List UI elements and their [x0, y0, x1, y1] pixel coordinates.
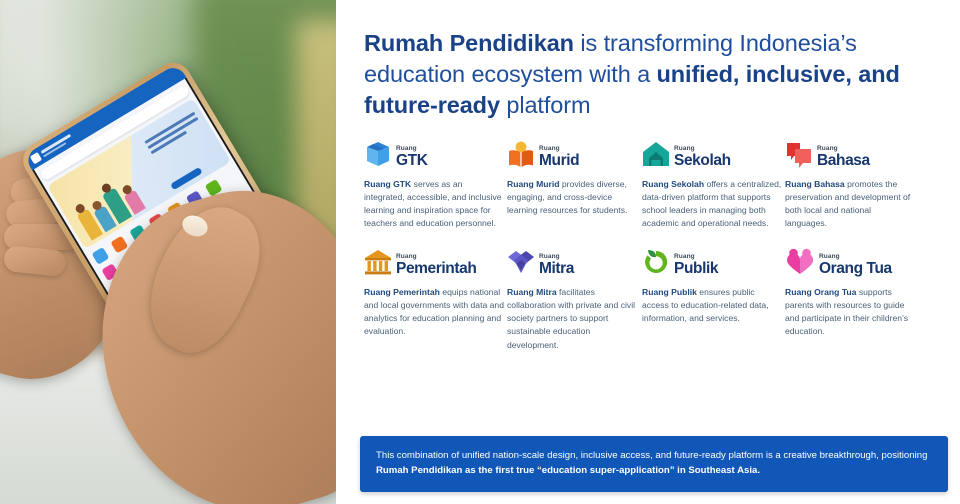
logo-ruang-bahasa: Ruang Bahasa: [785, 133, 915, 169]
card-body-pemerintah: Ruang Pemerintah equips national and loc…: [364, 286, 504, 338]
logo-text-mitra: Ruang Mitra: [539, 254, 574, 277]
recycle-leaf-icon: [642, 247, 670, 277]
card-body-gtk: Ruang GTK serves as an integrated, acces…: [364, 178, 504, 230]
summary-banner: This combination of unified nation-scale…: [360, 436, 948, 492]
logo-name-murid: Murid: [539, 153, 579, 169]
card-body-publik: Ruang Publik ensures public access to ed…: [642, 286, 782, 325]
open-book-icon: [507, 139, 535, 169]
logo-text-sekolah: Ruang Sekolah: [674, 146, 731, 169]
card-body-bahasa: Ruang Bahasa promotes the preservation a…: [785, 178, 915, 230]
card-ruang-publik[interactable]: Ruang Publik Ruang Publik ensures public…: [642, 241, 782, 351]
logo-ruang-pemerintah: Ruang Pemerintah: [364, 241, 504, 277]
card-body-murid: Ruang Murid provides diverse, engaging, …: [507, 178, 639, 217]
logo-name-mitra: Mitra: [539, 261, 574, 277]
logo-ruang-gtk: Ruang GTK: [364, 133, 504, 169]
card-ruang-gtk[interactable]: Ruang GTK Ruang GTK serves as an integra…: [364, 133, 504, 230]
logo-ruang-murid: Ruang Murid: [507, 133, 639, 169]
app-logo-icon: [30, 152, 42, 164]
logo-ruang-sekolah: Ruang Sekolah: [642, 133, 782, 169]
banner-text: This combination of unified nation-scale…: [376, 450, 927, 461]
app-hero-text: [144, 112, 203, 157]
hero-photo: [0, 0, 336, 504]
card-body-sekolah: Ruang Sekolah offers a centralized, data…: [642, 178, 782, 230]
page-title: Rumah Pendidikan is transforming Indones…: [364, 28, 954, 121]
app-brand-line-1: [40, 134, 71, 154]
headline-text-2: platform: [500, 92, 591, 118]
card-body-bold-bahasa: Ruang Bahasa: [785, 179, 845, 189]
logo-name-bahasa: Bahasa: [817, 153, 870, 169]
card-ruang-bahasa[interactable]: Ruang Bahasa Ruang Bahasa promotes the p…: [785, 133, 915, 230]
logo-name-gtk: GTK: [396, 153, 428, 169]
parents-heart-icon: [785, 247, 815, 277]
box-icon: [364, 139, 392, 169]
card-body-bold-sekolah: Ruang Sekolah: [642, 179, 704, 189]
logo-name-orang-tua: Orang Tua: [819, 261, 892, 277]
logo-text-murid: Ruang Murid: [539, 146, 579, 169]
logo-name-publik: Publik: [674, 261, 718, 277]
government-building-icon: [364, 247, 392, 277]
card-ruang-orang-tua[interactable]: Ruang Orang Tua Ruang Orang Tua supports…: [785, 241, 915, 351]
logo-text-gtk: Ruang GTK: [396, 146, 428, 169]
card-body-bold-publik: Ruang Publik: [642, 287, 697, 297]
card-body-bold-murid: Ruang Murid: [507, 179, 560, 189]
card-body-bold-pemerintah: Ruang Pemerintah: [364, 287, 440, 297]
slide: Rumah Pendidikan is transforming Indones…: [0, 0, 960, 504]
content-panel: Rumah Pendidikan is transforming Indones…: [336, 0, 960, 504]
logo-text-pemerintah: Ruang Pemerintah: [396, 254, 476, 277]
handshake-icon: [507, 247, 535, 277]
school-building-icon: [642, 139, 670, 169]
card-body-bold-mitra: Ruang Mitra: [507, 287, 557, 297]
logo-text-bahasa: Ruang Bahasa: [817, 146, 870, 169]
card-body-bold-orang-tua: Ruang Orang Tua: [785, 287, 856, 297]
service-row-2: Ruang Pemerintah Ruang Pemerintah equips…: [364, 241, 960, 351]
card-ruang-pemerintah[interactable]: Ruang Pemerintah Ruang Pemerintah equips…: [364, 241, 504, 351]
speech-bubbles-icon: [785, 139, 813, 169]
logo-ruang-publik: Ruang Publik: [642, 241, 782, 277]
card-body-orang-tua: Ruang Orang Tua supports parents with re…: [785, 286, 915, 338]
service-row-1: Ruang GTK Ruang GTK serves as an integra…: [364, 133, 960, 230]
logo-name-pemerintah: Pemerintah: [396, 261, 476, 277]
logo-name-sekolah: Sekolah: [674, 153, 731, 169]
banner-text-bold: Rumah Pendidikan as the first true “educ…: [376, 465, 760, 476]
card-ruang-murid[interactable]: Ruang Murid Ruang Murid provides diverse…: [507, 133, 639, 230]
headline-bold-1: Rumah Pendidikan: [364, 30, 574, 56]
card-ruang-sekolah[interactable]: Ruang Sekolah Ruang Sekolah offers a cen…: [642, 133, 782, 230]
logo-text-publik: Ruang Publik: [674, 254, 718, 277]
logo-ruang-orang-tua: Ruang Orang Tua: [785, 241, 915, 277]
logo-ruang-mitra: Ruang Mitra: [507, 241, 639, 277]
card-body-mitra: Ruang Mitra facilitates collaboration wi…: [507, 286, 639, 351]
service-cards: Ruang GTK Ruang GTK serves as an integra…: [364, 133, 960, 352]
card-ruang-mitra[interactable]: Ruang Mitra Ruang Mitra facilitates coll…: [507, 241, 639, 351]
logo-text-orang-tua: Ruang Orang Tua: [819, 254, 892, 277]
card-body-bold-gtk: Ruang GTK: [364, 179, 411, 189]
